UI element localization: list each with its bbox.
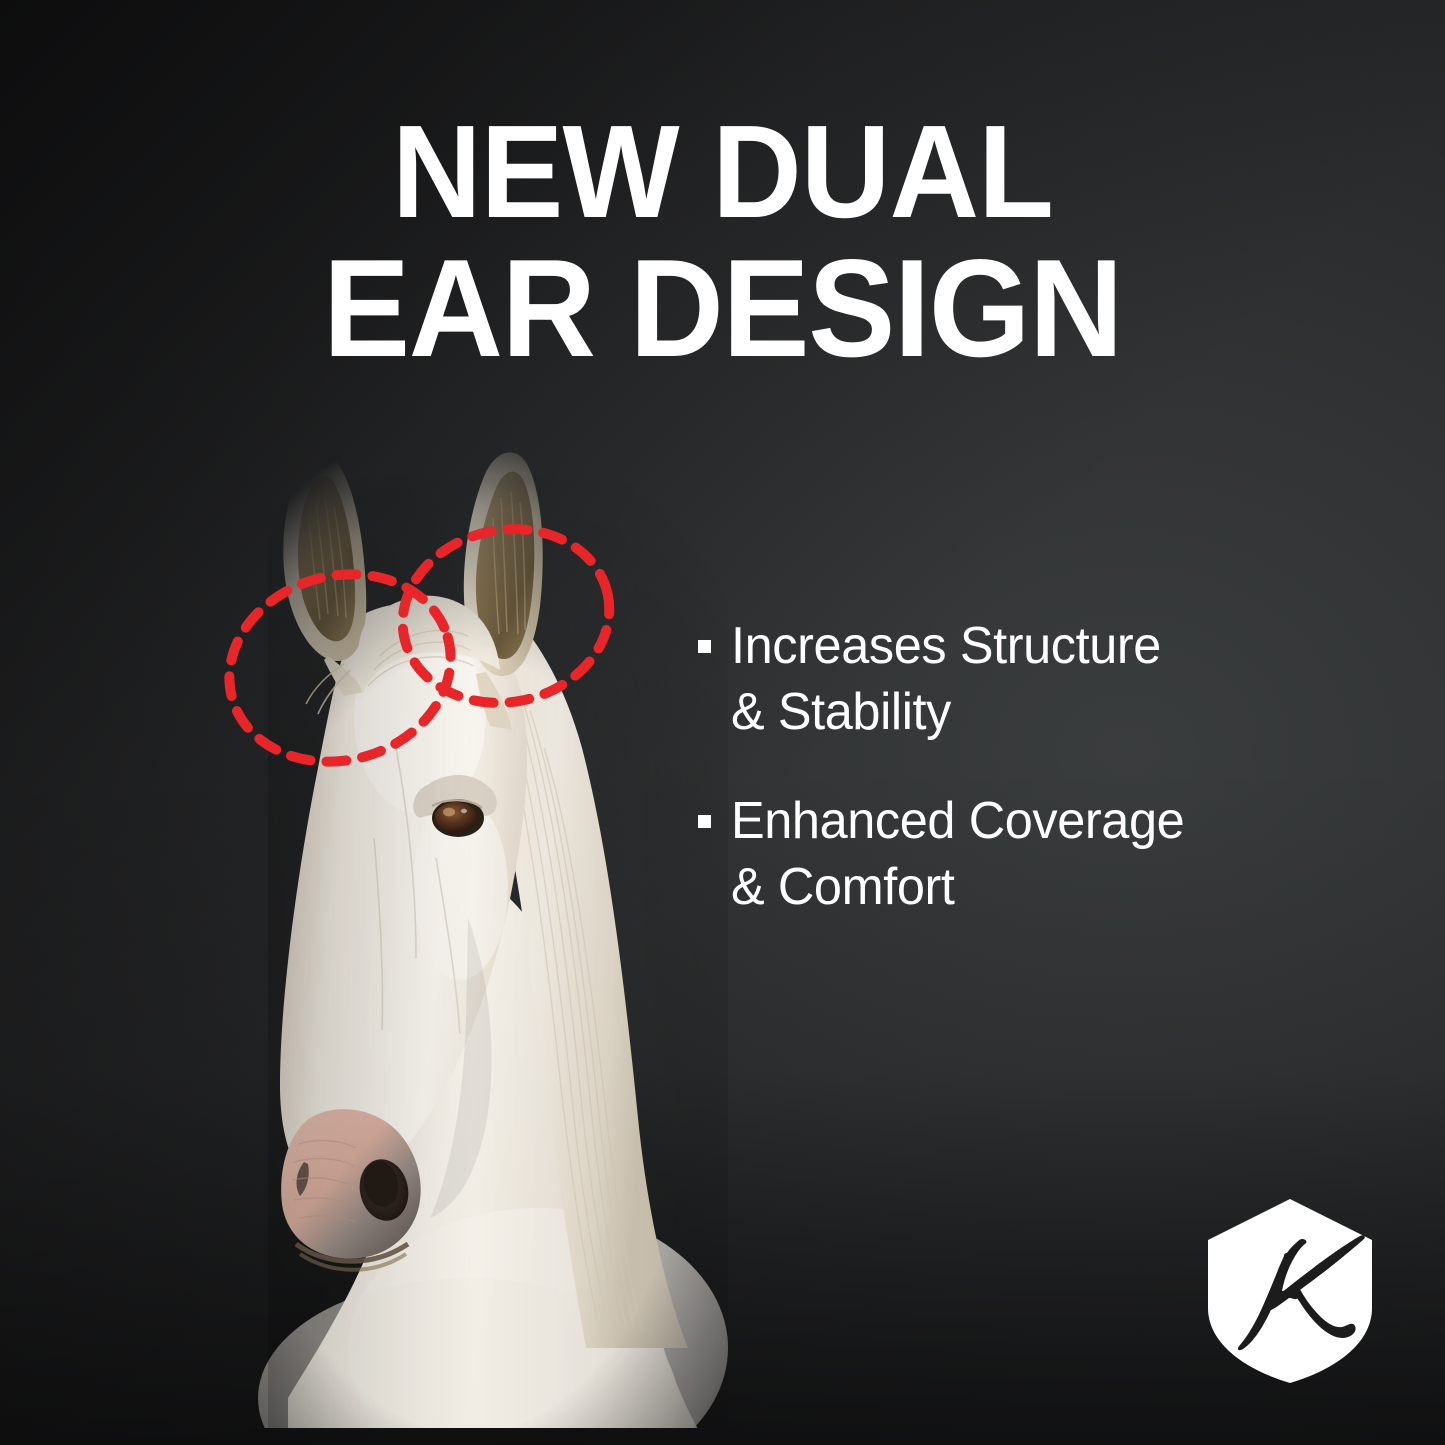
feature-text: Increases Structure & Stability bbox=[731, 614, 1161, 745]
headline-line-2: EAR DESIGN bbox=[43, 242, 1401, 377]
feature-text: Enhanced Coverage & Comfort bbox=[731, 789, 1184, 920]
marketing-graphic: NEW DUAL EAR DESIGN Increases Structure … bbox=[0, 0, 1445, 1445]
headline-line-1: NEW DUAL bbox=[43, 108, 1401, 236]
feature-list: Increases Structure & Stability Enhanced… bbox=[698, 614, 1358, 964]
square-bullet-icon bbox=[698, 815, 711, 828]
square-bullet-icon bbox=[698, 640, 711, 653]
horse-photo bbox=[168, 418, 768, 1428]
list-item: Increases Structure & Stability bbox=[698, 614, 1358, 745]
list-item: Enhanced Coverage & Comfort bbox=[698, 789, 1358, 920]
page-title: NEW DUAL EAR DESIGN bbox=[0, 108, 1445, 377]
brand-logo bbox=[1200, 1196, 1380, 1386]
